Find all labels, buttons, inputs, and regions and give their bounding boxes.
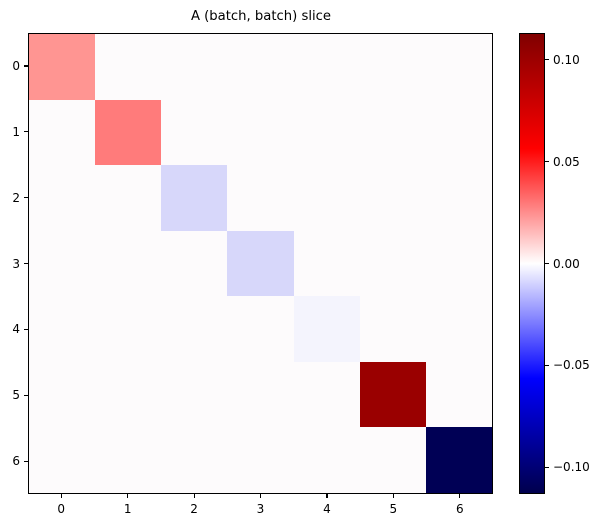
heatmap-cell bbox=[29, 165, 95, 231]
heatmap-cell bbox=[426, 296, 492, 362]
y-tick-mark bbox=[24, 263, 28, 264]
heatmap-cell bbox=[294, 231, 360, 297]
heatmap-cell bbox=[294, 427, 360, 493]
heatmap-grid bbox=[29, 34, 492, 493]
heatmap-cell bbox=[426, 100, 492, 166]
colorbar-tick-mark bbox=[545, 467, 549, 468]
x-tick-mark bbox=[127, 494, 128, 498]
heatmap-cell bbox=[360, 165, 426, 231]
heatmap-cell bbox=[95, 100, 161, 166]
x-tick-mark bbox=[194, 494, 195, 498]
heatmap-cell bbox=[95, 231, 161, 297]
colorbar-tick-label: −0.05 bbox=[553, 357, 590, 373]
y-tick-mark bbox=[24, 131, 28, 132]
x-tick-label: 6 bbox=[440, 501, 480, 517]
heatmap-cell bbox=[29, 362, 95, 428]
x-tick-label: 1 bbox=[108, 501, 148, 517]
heatmap-cell bbox=[227, 296, 293, 362]
colorbar-tick-label: 0.05 bbox=[553, 154, 580, 170]
heatmap-cell bbox=[227, 100, 293, 166]
matplotlib-figure: A (batch, batch) slice 0123456 0123456 0… bbox=[0, 0, 606, 528]
y-tick-label: 1 bbox=[12, 124, 20, 140]
y-tick-label: 0 bbox=[12, 58, 20, 74]
heatmap-cell bbox=[95, 296, 161, 362]
heatmap-cell bbox=[294, 100, 360, 166]
heatmap-cell bbox=[161, 427, 227, 493]
heatmap-cell bbox=[426, 427, 492, 493]
y-tick-mark bbox=[24, 329, 28, 330]
heatmap-cell bbox=[426, 362, 492, 428]
heatmap-cell bbox=[426, 165, 492, 231]
heatmap-cell bbox=[161, 296, 227, 362]
heatmap-cell bbox=[227, 231, 293, 297]
heatmap-cell bbox=[29, 296, 95, 362]
heatmap-cell bbox=[227, 362, 293, 428]
x-tick-label: 0 bbox=[41, 501, 81, 517]
heatmap-cell bbox=[161, 165, 227, 231]
heatmap-cell bbox=[294, 34, 360, 100]
y-tick-label: 4 bbox=[12, 321, 20, 337]
heatmap-cell bbox=[426, 34, 492, 100]
heatmap-cell bbox=[294, 362, 360, 428]
heatmap-cell bbox=[95, 34, 161, 100]
heatmap-cell bbox=[227, 34, 293, 100]
x-tick-mark bbox=[61, 494, 62, 498]
colorbar-tick-mark bbox=[545, 263, 549, 264]
heatmap-cell bbox=[29, 427, 95, 493]
heatmap-cell bbox=[294, 165, 360, 231]
heatmap-cell bbox=[29, 100, 95, 166]
colorbar-tick-label: 0.10 bbox=[553, 52, 580, 68]
y-tick-mark bbox=[24, 65, 28, 66]
heatmap-cell bbox=[95, 362, 161, 428]
y-axis-ticks: 0123456 bbox=[0, 33, 28, 494]
heatmap-cell bbox=[29, 231, 95, 297]
colorbar-tick-mark bbox=[545, 59, 549, 60]
y-tick-label: 6 bbox=[12, 453, 20, 469]
heatmap-cell bbox=[360, 100, 426, 166]
colorbar-ticks: 0.100.050.00−0.05−0.10 bbox=[519, 33, 606, 494]
y-tick-label: 5 bbox=[12, 387, 20, 403]
y-tick-mark bbox=[24, 197, 28, 198]
chart-title: A (batch, batch) slice bbox=[28, 9, 494, 25]
heatmap-cell bbox=[161, 100, 227, 166]
x-axis-ticks: 0123456 bbox=[28, 494, 493, 528]
heatmap-cell bbox=[161, 362, 227, 428]
heatmap-cell bbox=[360, 231, 426, 297]
y-tick-mark bbox=[24, 461, 28, 462]
heatmap-cell bbox=[294, 296, 360, 362]
heatmap-cell bbox=[360, 427, 426, 493]
x-tick-label: 5 bbox=[373, 501, 413, 517]
heatmap-cell bbox=[95, 427, 161, 493]
heatmap-cell bbox=[161, 231, 227, 297]
colorbar-tick-label: 0.00 bbox=[553, 256, 580, 272]
x-tick-mark bbox=[326, 494, 327, 498]
x-tick-mark bbox=[393, 494, 394, 498]
x-tick-mark bbox=[459, 494, 460, 498]
heatmap-cell bbox=[227, 165, 293, 231]
x-tick-label: 3 bbox=[241, 501, 281, 517]
y-tick-mark bbox=[24, 395, 28, 396]
colorbar-tick-label: −0.10 bbox=[553, 459, 590, 475]
heatmap-cell bbox=[426, 231, 492, 297]
y-tick-label: 2 bbox=[12, 190, 20, 206]
heatmap-cell bbox=[161, 34, 227, 100]
heatmap-cell bbox=[227, 427, 293, 493]
y-tick-label: 3 bbox=[12, 256, 20, 272]
heatmap-cell bbox=[95, 165, 161, 231]
heatmap-axes[interactable] bbox=[28, 33, 493, 494]
x-tick-label: 2 bbox=[174, 501, 214, 517]
x-tick-label: 4 bbox=[307, 501, 347, 517]
heatmap-cell bbox=[360, 34, 426, 100]
colorbar-tick-mark bbox=[545, 161, 549, 162]
heatmap-cell bbox=[360, 362, 426, 428]
heatmap-cell bbox=[360, 296, 426, 362]
colorbar-tick-mark bbox=[545, 365, 549, 366]
heatmap-cell bbox=[29, 34, 95, 100]
x-tick-mark bbox=[260, 494, 261, 498]
